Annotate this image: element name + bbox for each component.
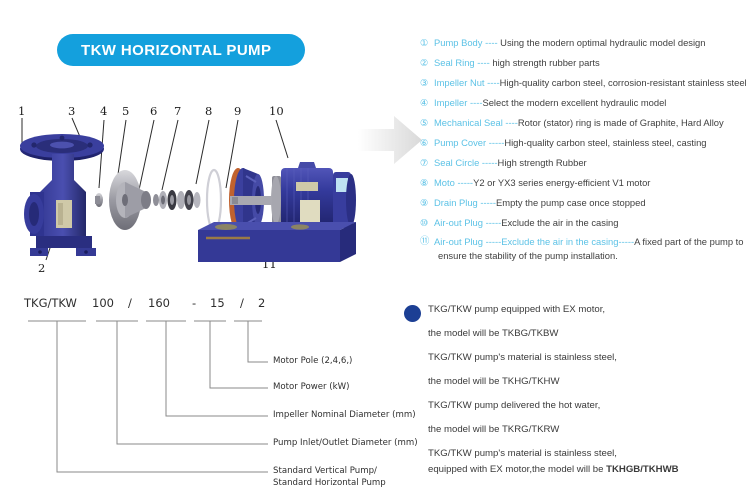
page-title-banner: TKW HORIZONTAL PUMP (57, 34, 305, 66)
model-code-slash-1: / (128, 296, 132, 310)
legend-part-name-6: Pump Cover (434, 137, 486, 148)
legend-number-1: ① (420, 33, 434, 53)
legend-item-4: ④Impeller ----Select the modern excellen… (420, 93, 756, 113)
part-mechanical-seal-stack (153, 190, 201, 210)
legend-description-11: A fixed part of the pump to (634, 236, 743, 247)
legend-number-10: ⑩ (420, 213, 434, 233)
legend-text-5: Mechanical Seal ----Rotor (stator) ring … (434, 113, 724, 133)
legend-number-6: ⑥ (420, 133, 434, 153)
legend-part-name-11: Air-out Plug -----Exclude the air in the… (434, 236, 634, 247)
legend-description-3: High-quality carbon steel, corrosion-res… (500, 77, 747, 88)
model-code-segment-power: 15 (210, 296, 225, 310)
legend-description-7: High strength Rubber (498, 157, 587, 168)
note-line-text-5: TKG/TKW pump delivered the hot water, (428, 400, 600, 411)
legend-text-7: Seal Circle -----High strength Rubber (434, 153, 587, 173)
model-designation-diagram: TKG/TKW 100 / 160 - 15 / 2 Motor Pole (2… (0, 296, 410, 500)
model-label-motor-power: Motor Power (kW) (273, 382, 349, 394)
part-pump-body (20, 134, 104, 256)
model-label-motor-pole: Motor Pole (2,4,6,) (273, 356, 352, 368)
legend-item-8: ⑧Moto -----Y2 or YX3 series energy-effic… (420, 173, 756, 193)
svg-text:2: 2 (38, 261, 45, 275)
legend-separator-1: ---- (482, 37, 500, 48)
part-seal-circle (207, 170, 221, 230)
legend-part-name-1: Pump Body (434, 37, 482, 48)
note-line-7: TKG/TKW pump's material is stainless ste… (428, 448, 617, 459)
legend-text-10: Air-out Plug -----Exclude the air in the… (434, 213, 618, 233)
svg-text:6: 6 (150, 104, 157, 118)
note-line-6: the model will be TKRG/TKRW (428, 424, 559, 435)
legend-item-7: ⑦Seal Circle -----High strength Rubber (420, 153, 756, 173)
part-base-plate (198, 222, 356, 262)
note-line-3: TKG/TKW pump's material is stainless ste… (428, 352, 617, 363)
legend-text-9: Drain Plug -----Empty the pump case once… (434, 193, 646, 213)
svg-text:10: 10 (269, 104, 284, 118)
legend-separator-8: ----- (455, 177, 473, 188)
legend-separator-5: ---- (503, 117, 518, 128)
note-line-8: equipped with EX motor,the model will be… (428, 464, 679, 475)
legend-description-8: Y2 or YX3 series energy-efficient V1 mot… (473, 177, 650, 188)
svg-text:7: 7 (174, 104, 181, 118)
legend-separator-4: ---- (467, 97, 482, 108)
legend-text-8: Moto -----Y2 or YX3 series energy-effici… (434, 173, 650, 193)
note-line-2: the model will be TKBG/TKBW (428, 328, 558, 339)
model-label-inlet-outlet-diameter: Pump Inlet/Outlet Diameter (mm) (273, 438, 418, 450)
legend-description-6: High-quality carbon steel, stainless ste… (504, 137, 706, 148)
svg-text:8: 8 (205, 104, 212, 118)
legend-text-11: Air-out Plug -----Exclude the air in the… (434, 233, 744, 263)
note-line-model-8: TKHGB/TKHWB (606, 464, 678, 475)
svg-text:3: 3 (68, 104, 75, 118)
legend-separator-2: ---- (475, 57, 493, 68)
legend-separator-3: ---- (485, 77, 500, 88)
legend-item-1: ①Pump Body ---- Using the modern optimal… (420, 33, 756, 53)
legend-text-6: Pump Cover -----High-quality carbon stee… (434, 133, 707, 153)
legend-part-name-8: Moto (434, 177, 455, 188)
exploded-pump-diagram: 1 3 4 5 6 7 8 9 10 2 11 (0, 96, 360, 296)
legend-item-5: ⑤Mechanical Seal ----Rotor (stator) ring… (420, 113, 756, 133)
svg-text:4: 4 (100, 104, 107, 118)
legend-text-3: Impeller Nut ----High-quality carbon ste… (434, 73, 747, 93)
bullet-dot-icon (404, 305, 421, 322)
legend-text-1: Pump Body ---- Using the modern optimal … (434, 33, 706, 53)
legend-part-name-7: Seal Circle (434, 157, 479, 168)
legend-part-name-10: Air-out Plug (434, 217, 483, 228)
legend-item-2: ②Seal Ring ---- high strength rubber par… (420, 53, 756, 73)
svg-text:9: 9 (234, 104, 241, 118)
legend-description-9: Empty the pump case once stopped (496, 197, 646, 208)
legend-number-9: ⑨ (420, 193, 434, 213)
model-code-slash-2: / (240, 296, 244, 310)
legend-part-name-2: Seal Ring (434, 57, 475, 68)
parts-legend-list: ①Pump Body ---- Using the modern optimal… (420, 33, 756, 265)
legend-text-2: Seal Ring ---- high strength rubber part… (434, 53, 600, 73)
legend-part-name-3: Impeller Nut (434, 77, 485, 88)
legend-part-name-9: Drain Plug (434, 197, 478, 208)
note-line-5: TKG/TKW pump delivered the hot water, (428, 400, 600, 411)
legend-part-name-4: Impeller (434, 97, 467, 108)
legend-number-3: ③ (420, 73, 434, 93)
legend-description-2: high strength rubber parts (492, 57, 599, 68)
note-line-text-8: equipped with EX motor,the model will be (428, 464, 606, 475)
model-label-standard-pump-line2: Standard Horizontal Pump (273, 478, 386, 488)
legend-number-5: ⑤ (420, 113, 434, 133)
legend-description-cont-11: ensure the stability of the pump install… (434, 249, 744, 263)
part-impeller-nut (95, 193, 103, 207)
legend-number-8: ⑧ (420, 173, 434, 193)
model-label-standard-pump: Standard Vertical Pump/ Standard Horizon… (273, 466, 386, 489)
legend-separator-10: ----- (483, 217, 501, 228)
legend-item-10: ⑩Air-out Plug -----Exclude the air in th… (420, 213, 756, 233)
legend-number-7: ⑦ (420, 153, 434, 173)
note-line-text-2: the model will be TKBG/TKBW (428, 328, 558, 339)
legend-text-4: Impeller ----Select the modern excellent… (434, 93, 666, 113)
svg-text:1: 1 (18, 104, 25, 118)
model-code-segment-pole: 2 (258, 296, 265, 310)
legend-number-4: ④ (420, 93, 434, 113)
legend-separator-9: ----- (478, 197, 496, 208)
note-line-1: TKG/TKW pump equipped with EX motor, (428, 304, 605, 315)
note-line-text-4: the model will be TKHG/TKHW (428, 376, 560, 387)
legend-item-11: ⑪Air-out Plug -----Exclude the air in th… (420, 233, 756, 265)
flow-arrow-icon (356, 112, 424, 168)
legend-item-3: ③Impeller Nut ----High-quality carbon st… (420, 73, 756, 93)
note-line-text-6: the model will be TKRG/TKRW (428, 424, 559, 435)
note-line-text-1: TKG/TKW pump equipped with EX motor, (428, 304, 605, 315)
legend-description-10: Exclude the air in the casing (501, 217, 618, 228)
legend-item-6: ⑥Pump Cover -----High-quality carbon ste… (420, 133, 756, 153)
note-line-text-7: TKG/TKW pump's material is stainless ste… (428, 448, 617, 459)
legend-part-name-5: Mechanical Seal (434, 117, 503, 128)
legend-number-11: ⑪ (420, 233, 434, 248)
legend-item-9: ⑨Drain Plug -----Empty the pump case onc… (420, 193, 756, 213)
legend-separator-7: ----- (479, 157, 497, 168)
svg-text:5: 5 (122, 104, 129, 118)
legend-description-5: Rotor (stator) ring is made of Graphite,… (518, 117, 724, 128)
note-line-4: the model will be TKHG/TKHW (428, 376, 560, 387)
part-impeller (109, 170, 151, 230)
model-code-segment-inlet: 100 (92, 296, 114, 310)
model-code-segment-impeller: 160 (148, 296, 170, 310)
model-code-dash: - (192, 296, 196, 310)
legend-description-1: Using the modern optimal hydraulic model… (500, 37, 705, 48)
model-label-standard-pump-line1: Standard Vertical Pump/ (273, 466, 377, 476)
legend-description-4: Select the modern excellent hydraulic mo… (482, 97, 666, 108)
page-title: TKW HORIZONTAL PUMP (57, 42, 271, 59)
model-code-prefix: TKG/TKW (24, 296, 77, 310)
legend-number-2: ② (420, 53, 434, 73)
legend-separator-6: ----- (486, 137, 504, 148)
model-label-impeller-diameter: Impeller Nominal Diameter (mm) (273, 410, 416, 422)
note-line-text-3: TKG/TKW pump's material is stainless ste… (428, 352, 617, 363)
